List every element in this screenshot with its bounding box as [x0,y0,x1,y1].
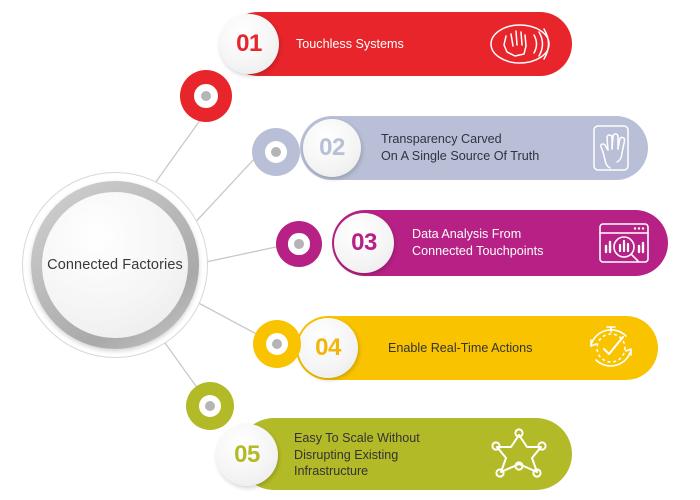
row-01-number-badge[interactable]: 01 [219,14,279,74]
row-03-node-ring [288,233,309,254]
row-05-node[interactable] [186,382,234,430]
infographic-canvas: Connected Factories 01 Touchless Systems [0,0,700,500]
row-01-node-ring [194,84,218,108]
star-network-icon [488,423,550,485]
row-02-title: Transparency Carved On A Single Source O… [381,131,591,164]
row-01-title: Touchless Systems [296,36,476,53]
hub-label: Connected Factories [47,255,183,275]
row-03-title: Data Analysis From Connected Touchpoints [412,226,612,259]
connector-line-3 [206,245,285,262]
row-01-node-core [201,91,212,102]
row-02-node-core [271,147,281,157]
row-03-node-core [294,239,304,249]
row-05-number-badge[interactable]: 05 [216,424,278,486]
row-02-node[interactable] [252,128,300,176]
row-04-number-badge[interactable]: 04 [298,318,358,378]
row-03-node[interactable] [276,221,322,267]
row-02-node-ring [265,141,287,163]
row-04-node-core [272,339,282,349]
touchless-hand-icon [484,18,556,70]
row-05-node-core [205,401,215,411]
central-hub[interactable]: Connected Factories [22,172,208,358]
row-04-node[interactable] [253,320,301,368]
row-04-node-ring [266,333,288,355]
row-02-number-badge[interactable]: 02 [303,119,361,177]
hub-inner-disc: Connected Factories [42,192,188,338]
hand-on-tablet-icon [586,122,636,174]
row-01-node[interactable] [180,70,232,122]
analytics-search-icon [596,220,652,268]
row-04-title: Enable Real-Time Actions [388,340,588,357]
row-05-title: Easy To Scale Without Disrupting Existin… [294,430,494,480]
row-03-number-badge[interactable]: 03 [334,213,394,273]
row-05-node-ring [199,395,221,417]
stopwatch-check-icon [583,320,639,376]
